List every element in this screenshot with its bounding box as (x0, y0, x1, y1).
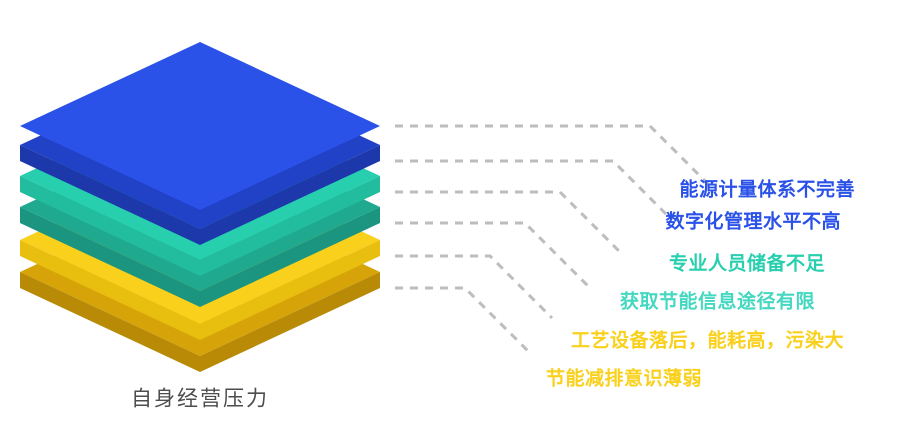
issue-label-2: 数字化管理水平不高 (665, 213, 841, 232)
stack-caption: 自身经营压力 (131, 389, 269, 410)
issue-label-3: 专业人员储备不足 (669, 255, 825, 274)
issue-label-5: 工艺设备落后，能耗高，污染大 (571, 332, 844, 351)
diagram-canvas: 能源计量体系不完善 数字化管理水平不高 专业人员储备不足 获取节能信息途径有限 … (0, 0, 924, 448)
issue-label-6: 节能减排意识薄弱 (546, 370, 702, 389)
issue-label-1: 能源计量体系不完善 (679, 181, 855, 200)
issue-label-4: 获取节能信息途径有限 (620, 293, 815, 312)
